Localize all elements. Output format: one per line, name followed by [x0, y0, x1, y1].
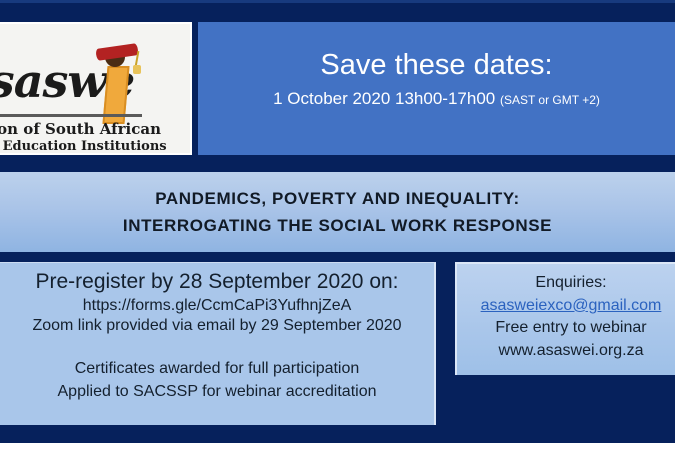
event-datetime-line: 1 October 2020 13h00-17h00 (SAST or GMT … — [198, 89, 675, 109]
event-timezone-text: (SAST or GMT +2) — [500, 93, 600, 107]
enquiries-heading: Enquiries: — [457, 272, 675, 295]
save-the-dates-box: Save these dates: 1 October 2020 13h00-1… — [198, 22, 675, 155]
free-entry-note: Free entry to webinar — [457, 317, 675, 340]
event-datetime-text: 1 October 2020 13h00-17h00 — [273, 89, 495, 108]
zoom-link-note: Zoom link provided via email by 29 Septe… — [0, 317, 434, 335]
registration-form-url[interactable]: https://forms.gle/CcmCaPi3YufhnjZeA — [0, 297, 434, 315]
enquiries-panel: Enquiries: asasweiexco@gmail.com Free en… — [455, 262, 675, 375]
navy-top-highlight — [0, 0, 675, 3]
logo-subtitle-line-1: ciation of South African — [0, 120, 161, 138]
website-url[interactable]: www.asaswei.org.za — [457, 340, 675, 363]
save-the-dates-heading: Save these dates: — [198, 50, 675, 82]
pre-register-heading: Pre-register by 28 September 2020 on: — [0, 270, 434, 294]
asaswei-logo-panel: asaswe ciation of South African Work Edu… — [0, 22, 192, 155]
certificates-note: Certificates awarded for full participat… — [0, 357, 434, 380]
graduation-tassel-knot-icon — [133, 65, 141, 74]
accreditation-note: Applied to SACSSP for webinar accreditat… — [0, 380, 434, 403]
logo-divider-rule — [0, 114, 142, 117]
webinar-flyer: asaswe ciation of South African Work Edu… — [0, 0, 675, 450]
webinar-title-band: PANDEMICS, POVERTY AND INEQUALITY: INTER… — [0, 172, 675, 252]
enquiries-email-link[interactable]: asasweiexco@gmail.com — [457, 295, 675, 318]
register-spacer — [0, 335, 434, 357]
webinar-title-line-1: PANDEMICS, POVERTY AND INEQUALITY: — [155, 185, 520, 212]
logo-subtitle-line-2: Work Education Institutions — [0, 139, 167, 154]
save-the-dates-inner: Save these dates: 1 October 2020 13h00-1… — [198, 50, 675, 109]
webinar-title-line-2: INTERROGATING THE SOCIAL WORK RESPONSE — [123, 212, 552, 239]
pre-register-panel: Pre-register by 28 September 2020 on: ht… — [0, 262, 436, 425]
